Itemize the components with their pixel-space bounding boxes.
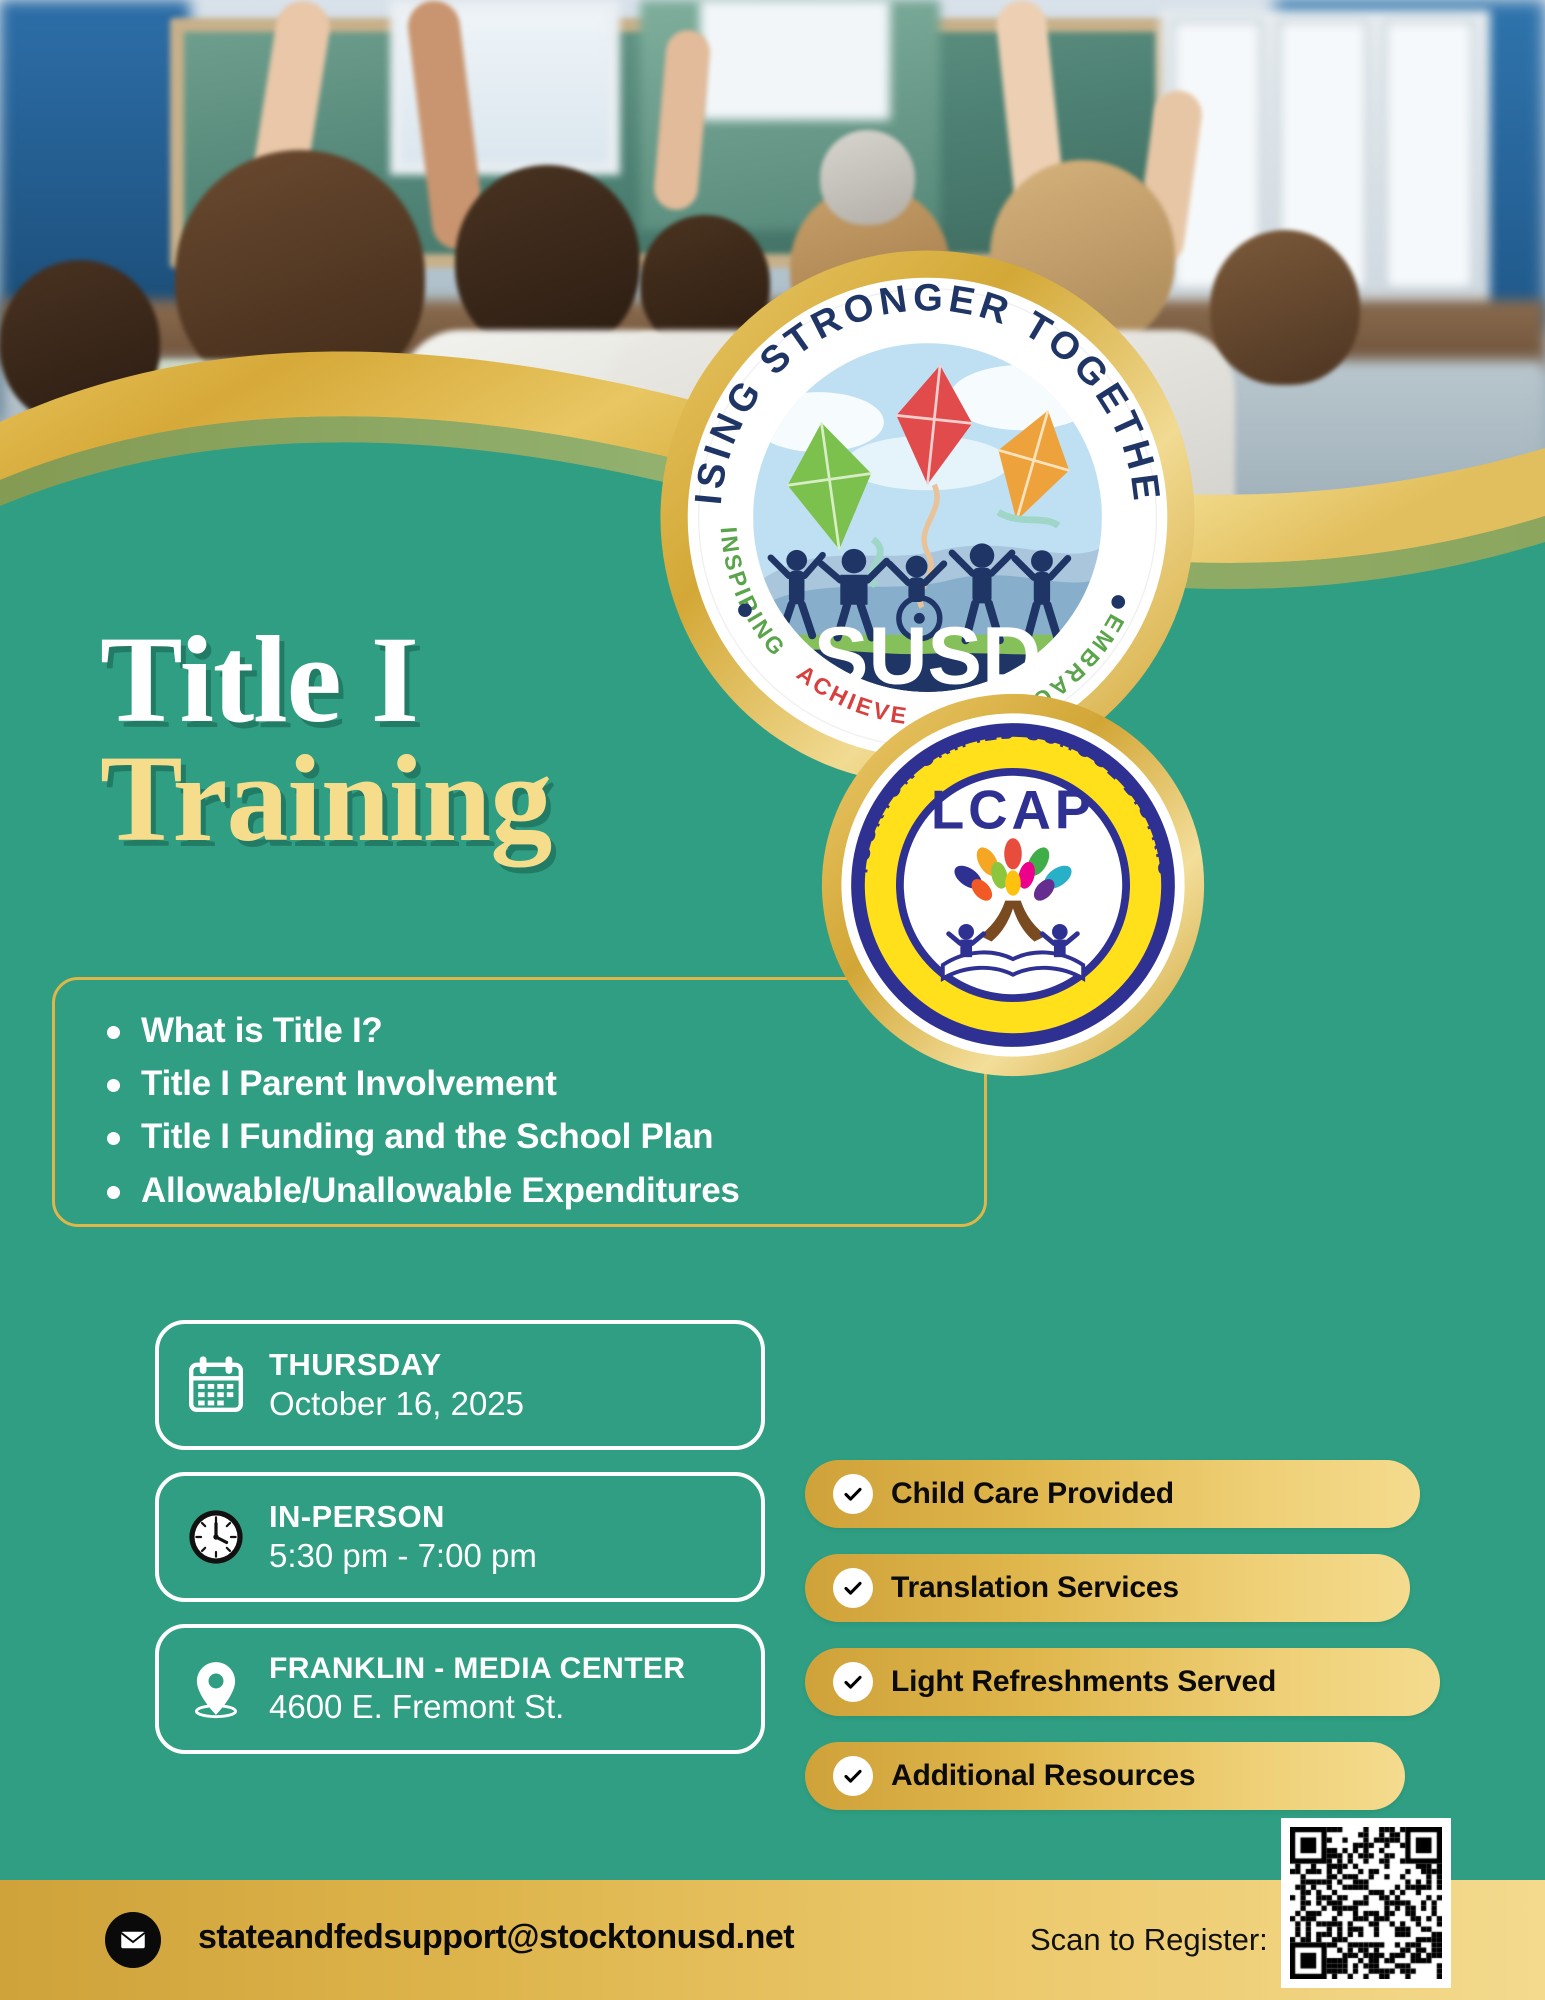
check-icon (833, 1474, 873, 1514)
amenity-pill: Translation Services (805, 1554, 1410, 1622)
time-value: 5:30 pm - 7:00 pm (269, 1537, 537, 1575)
time-label: IN-PERSON (269, 1499, 537, 1535)
calendar-icon (185, 1354, 247, 1416)
amenity-pill: Light Refreshments Served (805, 1648, 1440, 1716)
scan-to-register-label: Scan to Register: (1030, 1922, 1268, 1958)
check-icon (833, 1756, 873, 1796)
date-label: THURSDAY (269, 1347, 524, 1383)
flyer-poster: Title I Training What is Title I?Title I… (0, 0, 1545, 2000)
date-value: October 16, 2025 (269, 1385, 524, 1423)
amenity-label: Child Care Provided (891, 1477, 1174, 1511)
amenity-pill: Child Care Provided (805, 1460, 1420, 1528)
map-pin-icon (185, 1658, 247, 1720)
qr-code[interactable] (1281, 1818, 1451, 1988)
amenity-pill: Additional Resources (805, 1742, 1405, 1810)
detail-card-location: FRANKLIN - MEDIA CENTER 4600 E. Fremont … (155, 1624, 765, 1754)
location-label: FRANKLIN - MEDIA CENTER (269, 1652, 685, 1686)
amenity-label: Light Refreshments Served (891, 1665, 1276, 1699)
lcap-logo: LCAP (818, 690, 1208, 1080)
detail-card-time: IN-PERSON 5:30 pm - 7:00 pm (155, 1472, 765, 1602)
check-icon (833, 1662, 873, 1702)
topic-item: Title I Funding and the School Plan (97, 1110, 984, 1163)
topic-item: Allowable/Unallowable Expenditures (97, 1164, 984, 1217)
clock-icon (185, 1506, 247, 1568)
amenity-label: Translation Services (891, 1571, 1179, 1605)
lcap-wordmark: LCAP (931, 779, 1095, 840)
contact-email[interactable]: stateandfedsupport@stocktonusd.net (198, 1918, 794, 1957)
amenity-label: Additional Resources (891, 1759, 1195, 1793)
check-icon (833, 1568, 873, 1608)
envelope-icon (105, 1912, 161, 1968)
detail-card-date: THURSDAY October 16, 2025 (155, 1320, 765, 1450)
location-value: 4600 E. Fremont St. (269, 1688, 685, 1726)
